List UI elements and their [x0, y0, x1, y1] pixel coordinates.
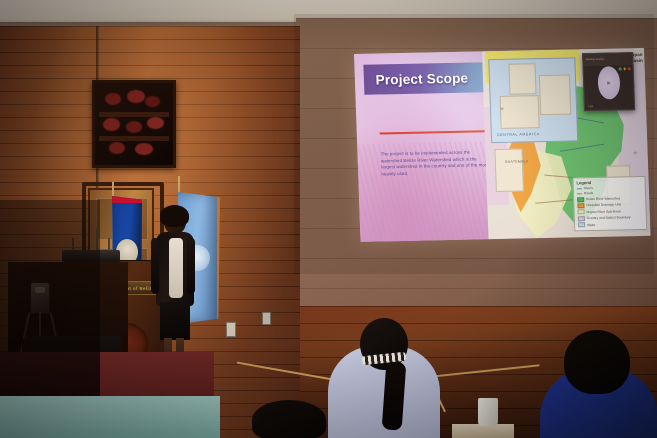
- legend-label: Roads: [584, 191, 594, 195]
- presenter-arm-right: [187, 238, 195, 294]
- framed-artwork: [92, 80, 176, 168]
- router-antenna: [108, 238, 110, 251]
- foreground-table: [0, 396, 220, 438]
- coffee-cup: [478, 398, 498, 426]
- legend-item: Country and District Boundary: [578, 215, 643, 222]
- map-land-patch: [495, 148, 524, 192]
- slide-body-text: The project is to be implemented across …: [381, 149, 492, 179]
- legend-swatch-line: [577, 193, 582, 194]
- legend-label: Chiquibul Drainage Unit: [586, 203, 621, 208]
- slide-title: Project Scope: [363, 70, 468, 87]
- map-country-label-guatemala: GUATEMALA: [505, 159, 529, 163]
- legend-item: Water: [578, 221, 643, 228]
- legend-heading: Legend: [576, 179, 641, 185]
- map-inset-label: CENTRAL AMERICA: [497, 132, 540, 137]
- popup-window-controls[interactable]: [619, 68, 631, 71]
- popup-dot-red[interactable]: [628, 68, 631, 71]
- presenter-arm-left: [151, 238, 159, 294]
- legend-label: Belize River Watershed: [586, 197, 620, 202]
- legend-label: Water: [587, 223, 596, 227]
- presenter: [150, 208, 196, 376]
- legend-label: Country and District Boundary: [587, 215, 631, 220]
- attendee-head: [252, 400, 326, 438]
- compass-icon: ✧: [499, 106, 504, 113]
- notepad: [452, 424, 514, 438]
- popup-footer-label: Live: [588, 105, 593, 108]
- slide-map: CENTRAL AMERICA ✧ BELIZE GUATEMALA ✧ Bel…: [482, 48, 651, 239]
- light-switch[interactable]: [262, 312, 271, 325]
- legend-swatch-fill: [578, 216, 585, 221]
- video-call-popup[interactable]: Meeting window IK Live: [582, 52, 635, 111]
- legend-label: Rivers: [584, 186, 593, 190]
- legend-item: Mopan River Sub-Basin: [577, 208, 642, 215]
- attendee-blue-shirt: [540, 330, 657, 438]
- legend-swatch-fill: [577, 209, 584, 214]
- wall-outlet-secondary: [226, 322, 236, 337]
- projected-slide: Project Scope The project is to be imple…: [354, 48, 651, 242]
- attendee-head: [564, 330, 630, 394]
- legend-swatch-fill: [577, 197, 584, 202]
- attendee-front-row: [252, 400, 344, 438]
- popup-dot-green[interactable]: [619, 68, 622, 71]
- map-legend: Legend Rivers Roads Belize River Watersh…: [572, 176, 647, 232]
- map-compass-icon: ✧: [633, 150, 638, 157]
- attendee-ponytail: [328, 318, 440, 438]
- legend-swatch-fill: [578, 222, 585, 227]
- presentation-room-photo: Project Scope The project is to be imple…: [0, 0, 657, 438]
- presenter-blouse: [169, 238, 183, 298]
- popup-title-bar: Meeting window: [583, 53, 632, 66]
- legend-swatch-fill: [577, 203, 584, 208]
- popup-title: Meeting window: [586, 58, 605, 61]
- popup-dot-yellow[interactable]: [623, 68, 626, 71]
- presenter-skirt: [160, 302, 190, 340]
- legend-swatch-line: [577, 188, 582, 189]
- map-inset-central-america: CENTRAL AMERICA ✧: [488, 57, 577, 143]
- artwork-pattern: [99, 87, 169, 161]
- presenter-hair: [160, 205, 189, 227]
- popup-avatar: IK: [597, 66, 621, 99]
- legend-label: Mopan River Sub-Basin: [586, 209, 621, 214]
